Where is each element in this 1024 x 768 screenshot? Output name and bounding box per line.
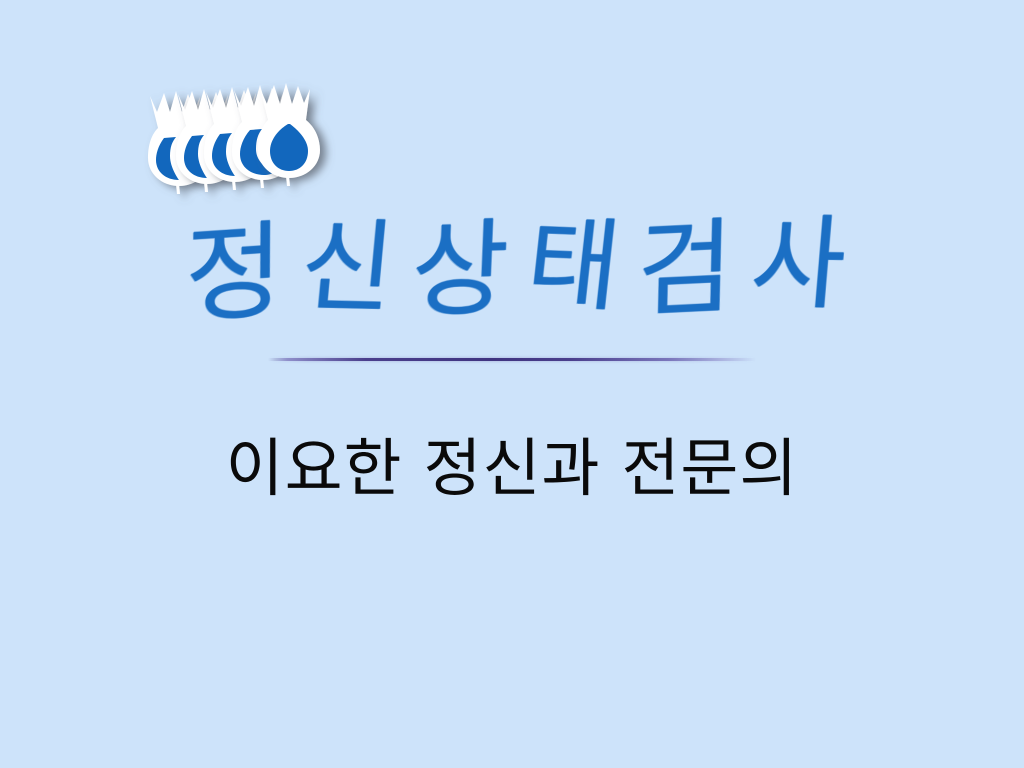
- title-char: 상: [409, 216, 510, 324]
- title-char: 검: [636, 215, 734, 323]
- title-char: 신: [296, 216, 398, 319]
- slide-subtitle: 이요한 정신과 전문의: [0, 432, 1024, 506]
- title-char: 정: [185, 217, 283, 329]
- slide-title: 정 신 상 태 검 사: [0, 196, 1024, 348]
- onion-bulb-cluster-logo: [138, 78, 323, 200]
- presentation-title-slide: 정 신 상 태 검 사 이요한 정신과 전문의: [0, 0, 1024, 768]
- title-char: 태: [522, 214, 625, 317]
- divider-line: [268, 358, 756, 361]
- title-char: 사: [748, 212, 850, 315]
- slide-title-text: 정 신 상 태 검 사: [182, 188, 851, 348]
- title-divider: [268, 357, 756, 362]
